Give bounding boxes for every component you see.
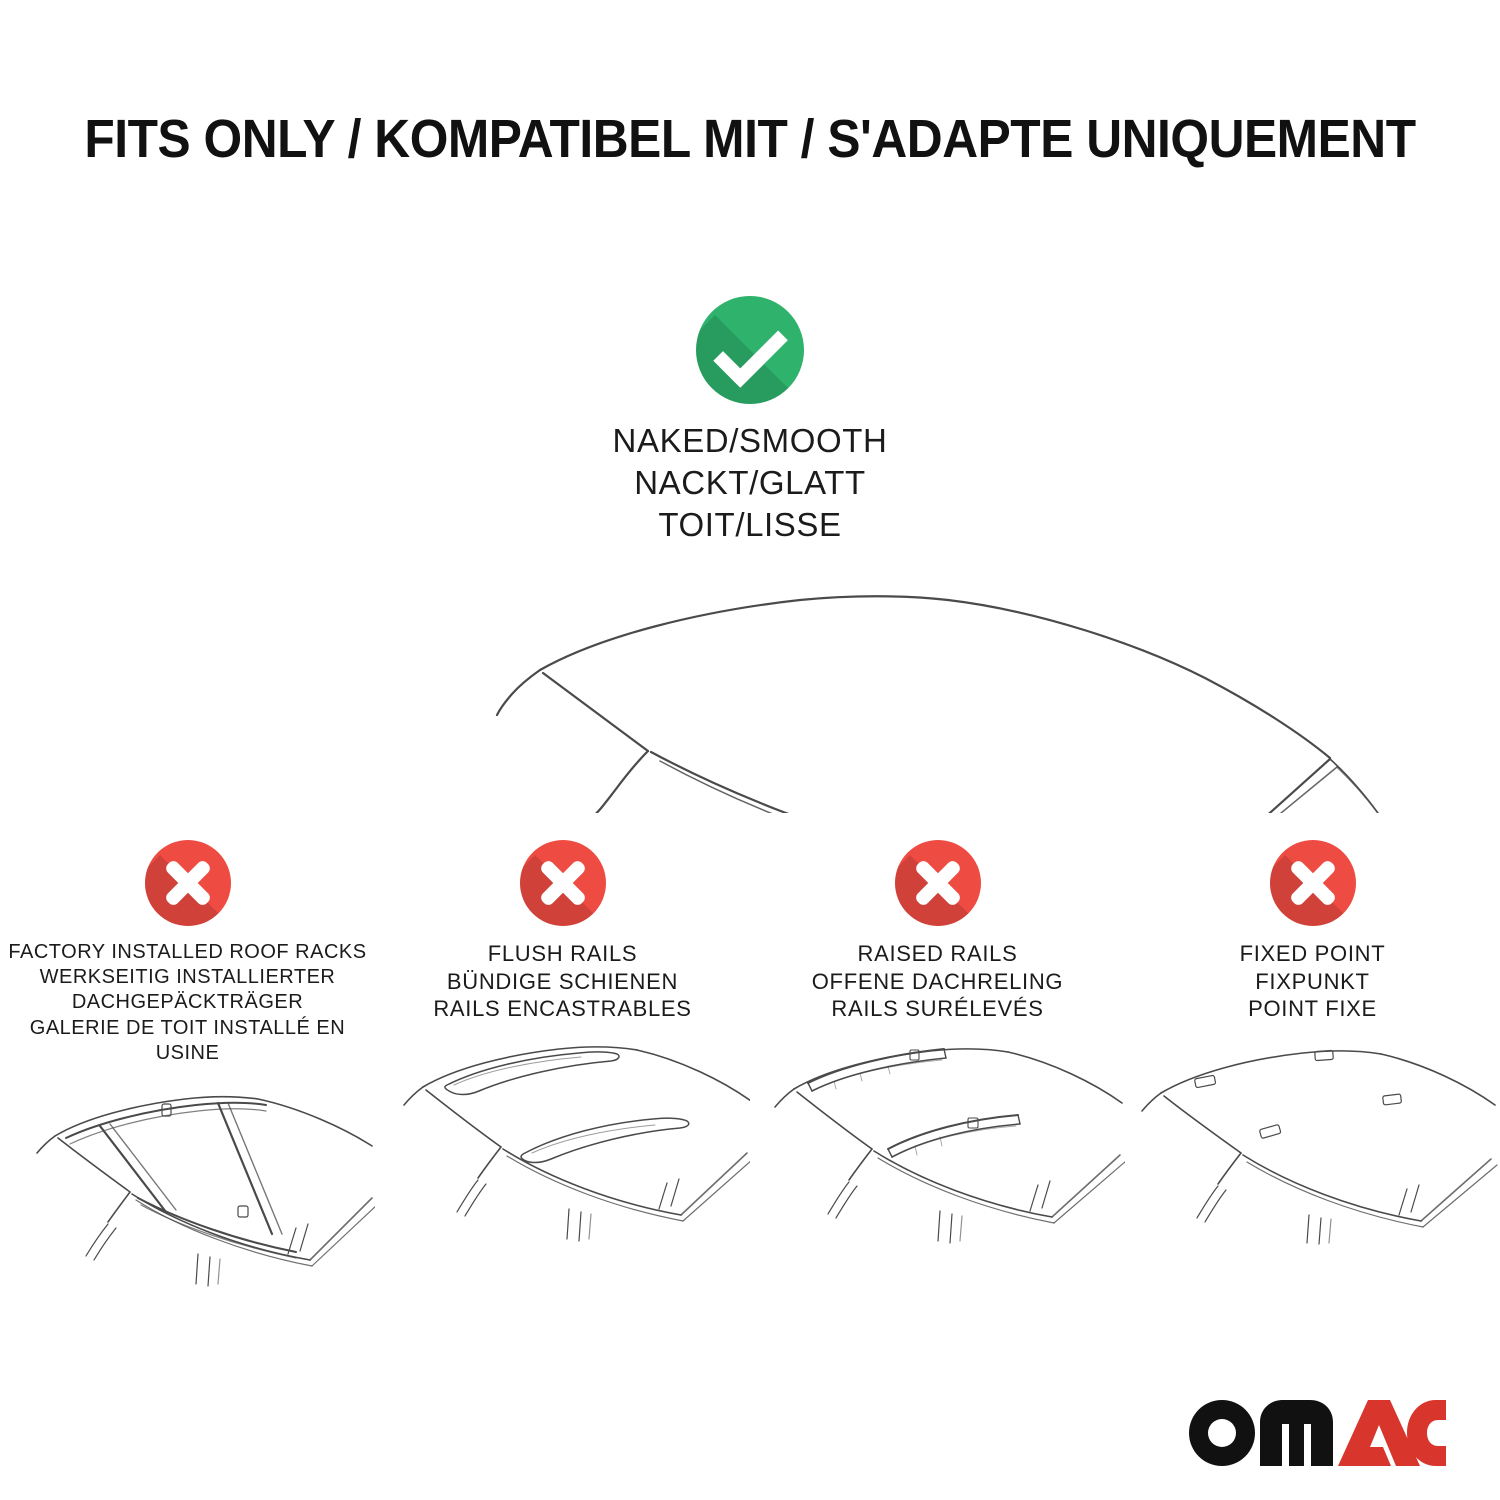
cross-circle-icon [895,840,981,926]
car-roof-flush-rails-illustration [375,1035,750,1245]
rejected-item-fixed-point: FIXED POINT FIXPUNKT POINT FIXE [1125,840,1500,1250]
rejected-label-line-1: FACTORY INSTALLED ROOF RACKS [0,940,375,965]
rejected-label-line-1: FLUSH RAILS [375,940,750,968]
rejected-item-flush-rails: FLUSH RAILS BÜNDIGE SCHIENEN RAILS ENCAS… [375,840,750,1250]
rejected-label-raised-rails: RAISED RAILS OFFENE DACHRELING RAILS SUR… [750,940,1125,1023]
cross-circle-icon [145,840,231,926]
rejected-label-factory-racks: FACTORY INSTALLED ROOF RACKS WERKSEITIG … [0,940,375,1066]
rejected-label-line-1: FIXED POINT [1125,940,1500,968]
rejected-label-fixed-point: FIXED POINT FIXPUNKT POINT FIXE [1125,940,1500,1023]
rejected-item-factory-racks: FACTORY INSTALLED ROOF RACKS WERKSEITIG … [0,840,375,1293]
rejected-label-line-4: GALERIE DE TOIT INSTALLÉ EN USINE [0,1016,375,1066]
approved-label: NAKED/SMOOTH NACKT/GLATT TOIT/LISSE [0,420,1500,547]
approved-label-line-1: NAKED/SMOOTH [0,420,1500,462]
rejected-label-line-3: POINT FIXE [1125,995,1500,1023]
cross-circle-icon [520,840,606,926]
car-roof-factory-racks-illustration [0,1078,375,1288]
rejected-label-line-1: RAISED RAILS [750,940,1125,968]
approved-label-line-3: TOIT/LISSE [0,504,1500,546]
rejected-label-line-3: RAILS SURÉLEVÉS [750,995,1125,1023]
rejected-label-line-2: WERKSEITIG INSTALLIERTER [0,965,375,990]
omac-logo [1188,1394,1448,1472]
rejected-label-line-2: FIXPUNKT [1125,968,1500,996]
car-roof-fixed-point-illustration [1125,1035,1500,1245]
cross-circle-icon [1270,840,1356,926]
rejected-label-line-3: DACHGEPÄCKTRÄGER [0,990,375,1015]
rejected-label-flush-rails: FLUSH RAILS BÜNDIGE SCHIENEN RAILS ENCAS… [375,940,750,1023]
rejected-item-raised-rails: RAISED RAILS OFFENE DACHRELING RAILS SUR… [750,840,1125,1250]
rejected-label-line-3: RAILS ENCASTRABLES [375,995,750,1023]
omac-logo-letter-m [1260,1400,1333,1466]
check-circle-icon [696,296,804,404]
approved-label-line-2: NACKT/GLATT [0,462,1500,504]
page-title: FITS ONLY / KOMPATIBEL MIT / S'ADAPTE UN… [60,108,1440,170]
car-roof-raised-rails-illustration [750,1035,1125,1245]
rejected-label-line-2: OFFENE DACHRELING [750,968,1125,996]
rejected-section: FACTORY INSTALLED ROOF RACKS WERKSEITIG … [0,840,1500,1293]
car-roof-naked-smooth-illustration [0,563,1500,813]
omac-logo-letter-o [1189,1400,1255,1466]
approved-section: NAKED/SMOOTH NACKT/GLATT TOIT/LISSE [0,296,1500,818]
rejected-label-line-2: BÜNDIGE SCHIENEN [375,968,750,996]
